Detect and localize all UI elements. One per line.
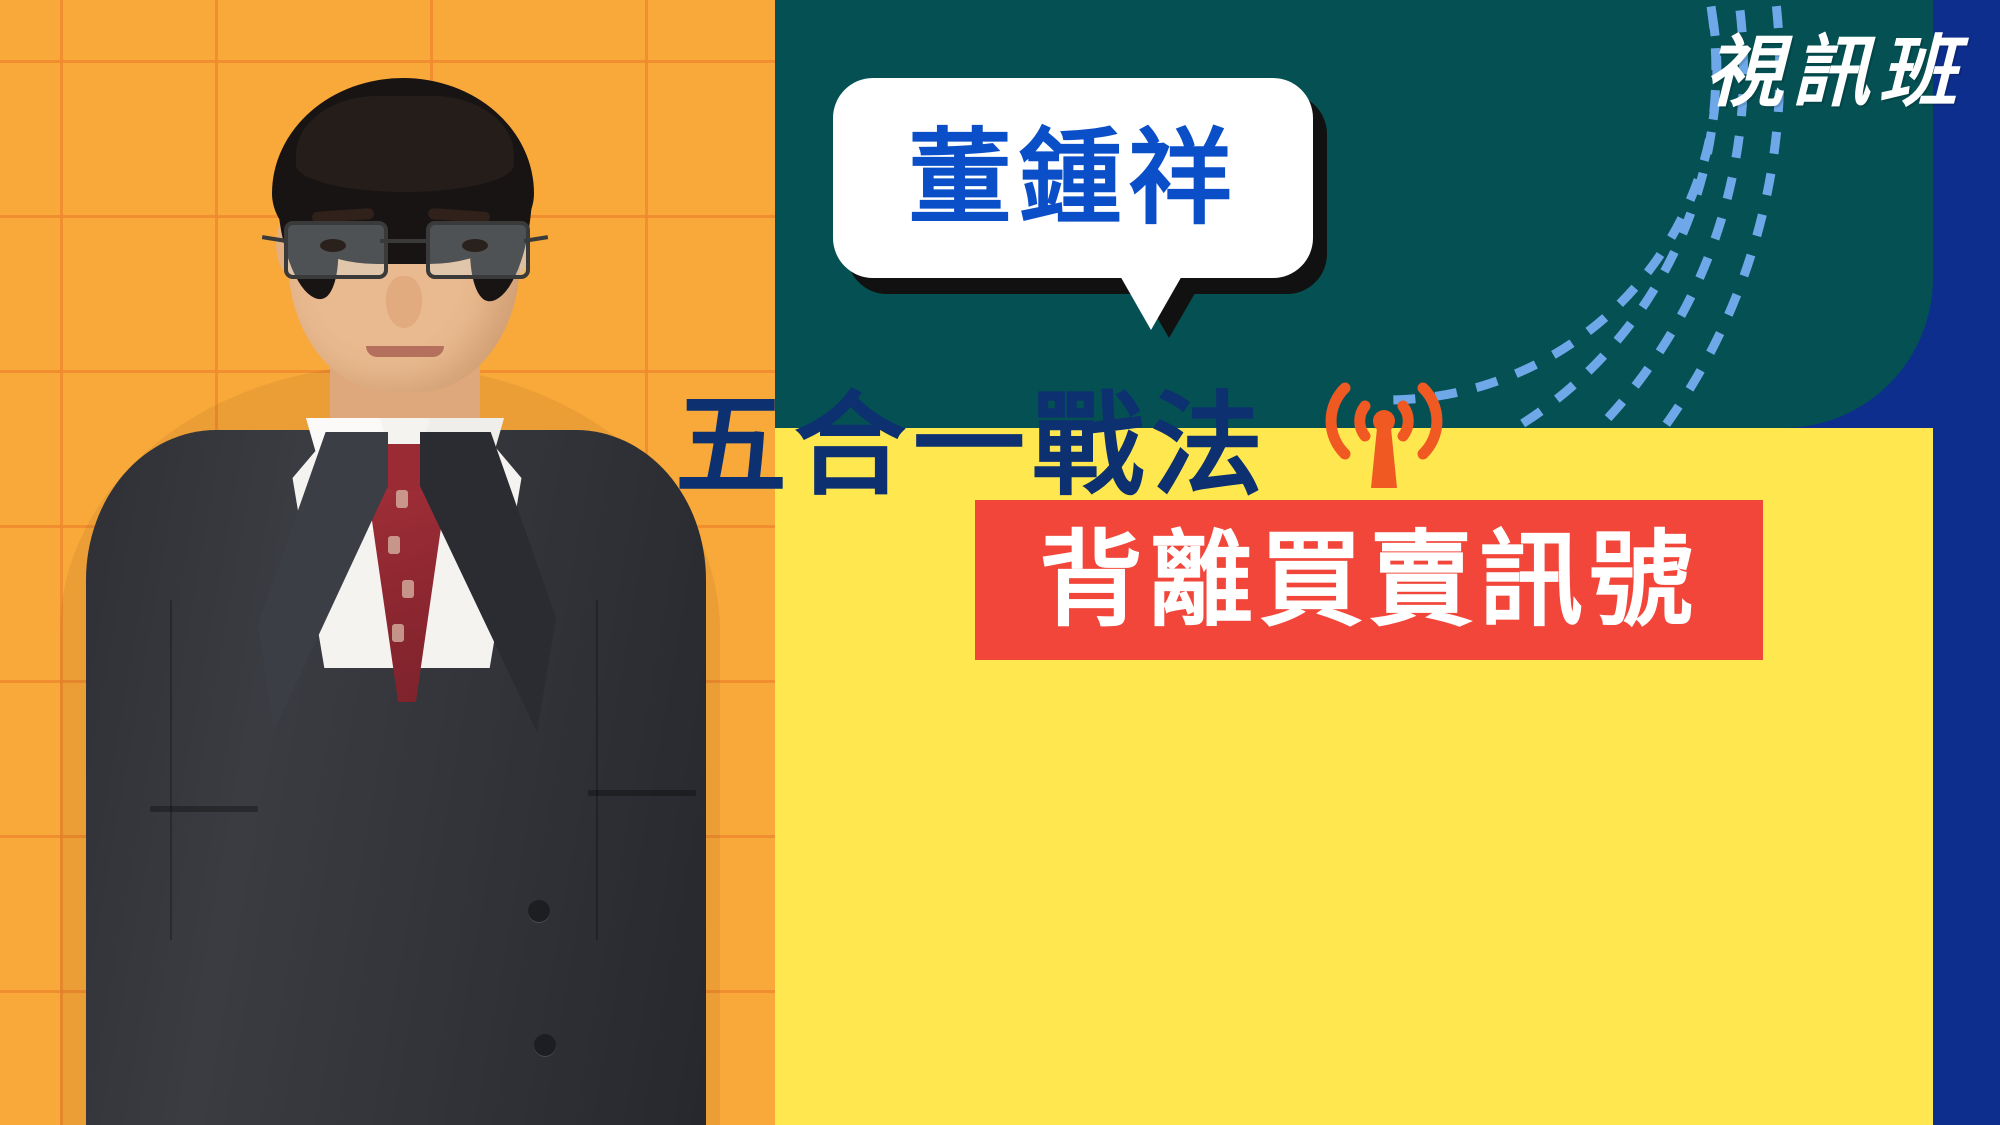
jacket-button <box>528 900 550 922</box>
nose <box>386 276 422 328</box>
headline-main: 五合一戰法 <box>675 390 1295 502</box>
subtitle-red-banner: 背離買賣訊號 <box>975 500 1763 660</box>
mouth <box>366 346 444 357</box>
right-content-area: 視訊班 董鍾祥 五合一戰法 背離買賣訊號 <box>775 0 2000 1125</box>
jacket-seam <box>170 600 172 940</box>
speaker-name-bubble: 董鍾祥 <box>833 78 1333 398</box>
eyeglasses-icon <box>284 215 526 277</box>
jacket-pocket <box>588 790 696 796</box>
course-format-badge: 視訊班 <box>1705 10 1966 122</box>
jacket-seam <box>596 600 598 940</box>
promo-banner: 視訊班 董鍾祥 五合一戰法 背離買賣訊號 <box>0 0 2000 1125</box>
jacket-button <box>534 1034 556 1056</box>
headline-sub: 背離買賣訊號 <box>1039 528 1699 632</box>
jacket-pocket <box>150 806 258 812</box>
left-orange-panel <box>0 0 775 1125</box>
broadcast-antenna-icon <box>1309 370 1459 500</box>
hair-fringe <box>296 96 514 192</box>
speech-bubble-tail-icon <box>1119 274 1183 330</box>
instructor-portrait <box>0 0 775 1125</box>
bubble-body: 董鍾祥 <box>833 78 1313 278</box>
speaker-name: 董鍾祥 <box>908 126 1238 230</box>
